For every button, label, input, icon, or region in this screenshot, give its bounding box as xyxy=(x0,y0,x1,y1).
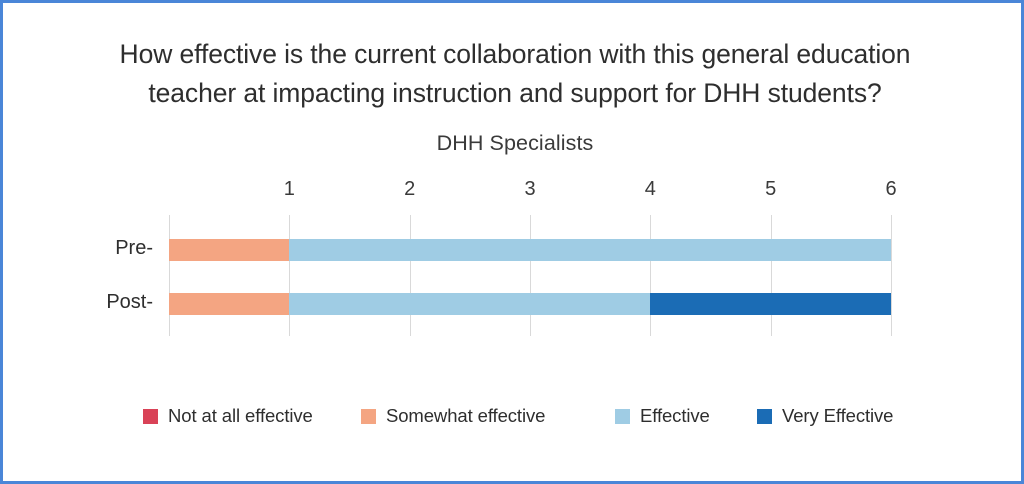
chart-title: How effective is the current collaborati… xyxy=(63,35,967,113)
chart-legend: Not at all effectiveSomewhat effectiveEf… xyxy=(143,405,923,433)
legend-label: Somewhat effective xyxy=(386,405,545,427)
gridline-4 xyxy=(650,215,651,336)
bar-segment[interactable] xyxy=(169,293,289,315)
gridline-2 xyxy=(410,215,411,336)
legend-swatch-icon xyxy=(615,409,630,424)
category-label-post: Post- xyxy=(13,291,153,314)
bar-row-post: Post- xyxy=(169,293,891,315)
gridline-3 xyxy=(530,215,531,336)
bar-row-pre: Pre- xyxy=(169,239,891,261)
legend-item-somewhat-effective[interactable]: Somewhat effective xyxy=(361,405,545,427)
legend-item-effective[interactable]: Effective xyxy=(615,405,710,427)
gridline-0 xyxy=(169,215,170,336)
legend-swatch-icon xyxy=(757,409,772,424)
bar-segment[interactable] xyxy=(289,293,650,315)
x-tick-label-3: 3 xyxy=(510,178,550,201)
legend-swatch-icon xyxy=(143,409,158,424)
plot-area: 123456 Pre-Post- xyxy=(169,215,891,336)
bar-segment[interactable] xyxy=(289,239,891,261)
x-tick-label-2: 2 xyxy=(390,178,430,201)
bar-segment[interactable] xyxy=(650,293,891,315)
x-tick-label-1: 1 xyxy=(269,178,309,201)
legend-label: Effective xyxy=(640,405,710,427)
x-tick-label-6: 6 xyxy=(871,178,911,201)
category-label-pre: Pre- xyxy=(13,237,153,260)
x-tick-label-4: 4 xyxy=(630,178,670,201)
legend-swatch-icon xyxy=(361,409,376,424)
legend-item-very-effective[interactable]: Very Effective xyxy=(757,405,893,427)
bar-segment[interactable] xyxy=(169,239,289,261)
gridline-6 xyxy=(891,215,892,336)
legend-label: Not at all effective xyxy=(168,405,313,427)
legend-item-not-at-all-effective[interactable]: Not at all effective xyxy=(143,405,313,427)
gridline-5 xyxy=(771,215,772,336)
gridline-1 xyxy=(289,215,290,336)
x-tick-label-5: 5 xyxy=(751,178,791,201)
chart-subtitle: DHH Specialists xyxy=(63,131,967,156)
chart-title-line-2: teacher at impacting instruction and sup… xyxy=(63,74,967,113)
legend-label: Very Effective xyxy=(782,405,893,427)
slide-canvas: How effective is the current collaborati… xyxy=(0,0,1024,484)
chart-title-line-1: How effective is the current collaborati… xyxy=(63,35,967,74)
